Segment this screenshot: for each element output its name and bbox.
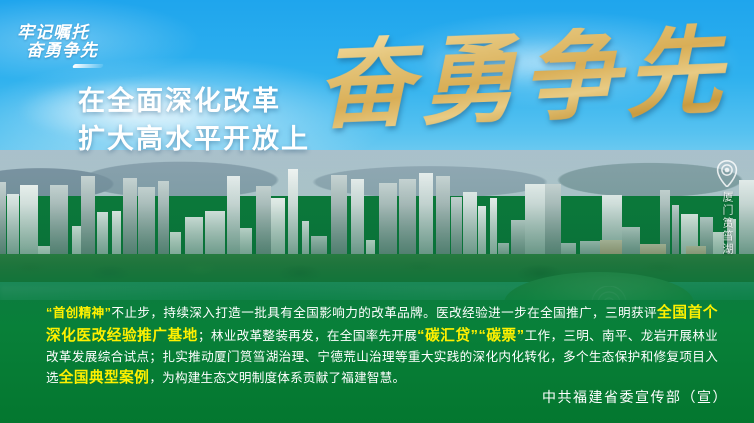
- logo-line-2: 奋勇争先: [17, 42, 98, 60]
- location-watermark: 厦门筼筜湖: [716, 160, 738, 256]
- poster-root: 牢记嘱托 奋勇争先 在全面深化改革 扩大高水平开放上 奋勇争先 厦门筼筜湖 “首…: [0, 0, 754, 423]
- logo-swoosh-icon: [72, 64, 104, 68]
- headline-line-2: 扩大高水平开放上: [78, 120, 310, 158]
- signature: 中共福建省委宣传部（宣）: [542, 387, 728, 407]
- location-label: 厦门筼筜湖: [719, 191, 735, 256]
- footer-panel: “首创精神”不止步，持续深入打造一批具有全国影响力的改革品牌。医改经验进一步在全…: [0, 300, 754, 423]
- body-seg-4: ；林业改革整装再发，在全国率先开展: [198, 329, 417, 343]
- body-seg-6: “碳票”: [478, 328, 524, 344]
- location-pin-icon: [716, 160, 738, 187]
- headline-line-1: 在全面深化改革: [78, 82, 310, 120]
- headline: 在全面深化改革 扩大高水平开放上: [78, 82, 310, 159]
- body-seg-5: “碳汇贷”: [417, 328, 478, 344]
- body-seg-9: ，为构建生态文明制度体系贡献了福建智慧。: [149, 371, 405, 385]
- calligraphy-title: 奋勇争先: [314, 22, 729, 135]
- campaign-logo: 牢记嘱托 奋勇争先: [17, 24, 98, 61]
- logo-line-1: 牢记嘱托: [17, 24, 98, 42]
- body-seg-1: “首创精神”: [46, 306, 111, 320]
- body-seg-8: 全国典型案例: [59, 370, 150, 386]
- body-paragraph: “首创精神”不止步，持续深入打造一批具有全国影响力的改革品牌。医改经验进一步在全…: [46, 302, 718, 390]
- body-seg-2: 不止步，持续深入打造一批具有全国影响力的改革品牌。医改经验进一步在全国推广，三明…: [111, 306, 657, 320]
